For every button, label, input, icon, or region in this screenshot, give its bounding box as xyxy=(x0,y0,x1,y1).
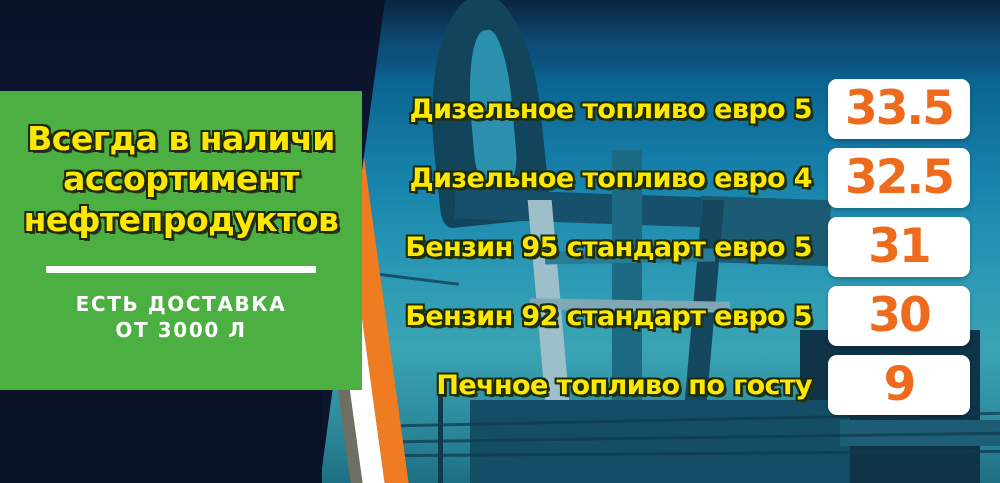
price-box: 30 xyxy=(828,286,970,346)
fuel-price-banner: Всегда в наличи ассортимент нефтепродукт… xyxy=(0,0,1000,483)
delivery-note: ЕСТЬ ДОСТАВКА ОТ 3000 Л xyxy=(76,291,287,343)
offer-divider xyxy=(46,266,316,273)
price-value: 32.5 xyxy=(845,154,953,201)
price-label: Дизельное топливо евро 5 xyxy=(380,96,828,123)
price-row: Дизельное топливо евро 5 33.5 xyxy=(380,79,970,139)
price-value: 31 xyxy=(868,223,929,270)
price-value: 9 xyxy=(884,361,915,408)
offer-headline: Всегда в наличи ассортимент нефтепродукт… xyxy=(16,119,346,240)
price-list: Дизельное топливо евро 5 33.5 Дизельное … xyxy=(380,79,970,415)
price-label: Дизельное топливо евро 4 xyxy=(380,165,828,192)
price-row: Дизельное топливо евро 4 32.5 xyxy=(380,148,970,208)
price-box: 31 xyxy=(828,217,970,277)
price-box: 32.5 xyxy=(828,148,970,208)
price-box: 9 xyxy=(828,355,970,415)
price-box: 33.5 xyxy=(828,79,970,139)
bottom-navy-band xyxy=(0,390,322,483)
price-row: Бензин 95 стандарт евро 5 31 xyxy=(380,217,970,277)
price-row: Бензин 92 стандарт евро 5 30 xyxy=(380,286,970,346)
offer-panel: Всегда в наличи ассортимент нефтепродукт… xyxy=(0,91,362,390)
delivery-note-line-2: ОТ 3000 Л xyxy=(76,317,287,343)
price-row: Печное топливо по госту 9 xyxy=(380,355,970,415)
price-value: 33.5 xyxy=(845,85,953,132)
delivery-note-line-1: ЕСТЬ ДОСТАВКА xyxy=(76,291,287,317)
price-value: 30 xyxy=(868,292,929,339)
price-label: Бензин 92 стандарт евро 5 xyxy=(380,303,828,330)
price-label: Печное топливо по госту xyxy=(380,372,828,399)
price-label: Бензин 95 стандарт евро 5 xyxy=(380,234,828,261)
